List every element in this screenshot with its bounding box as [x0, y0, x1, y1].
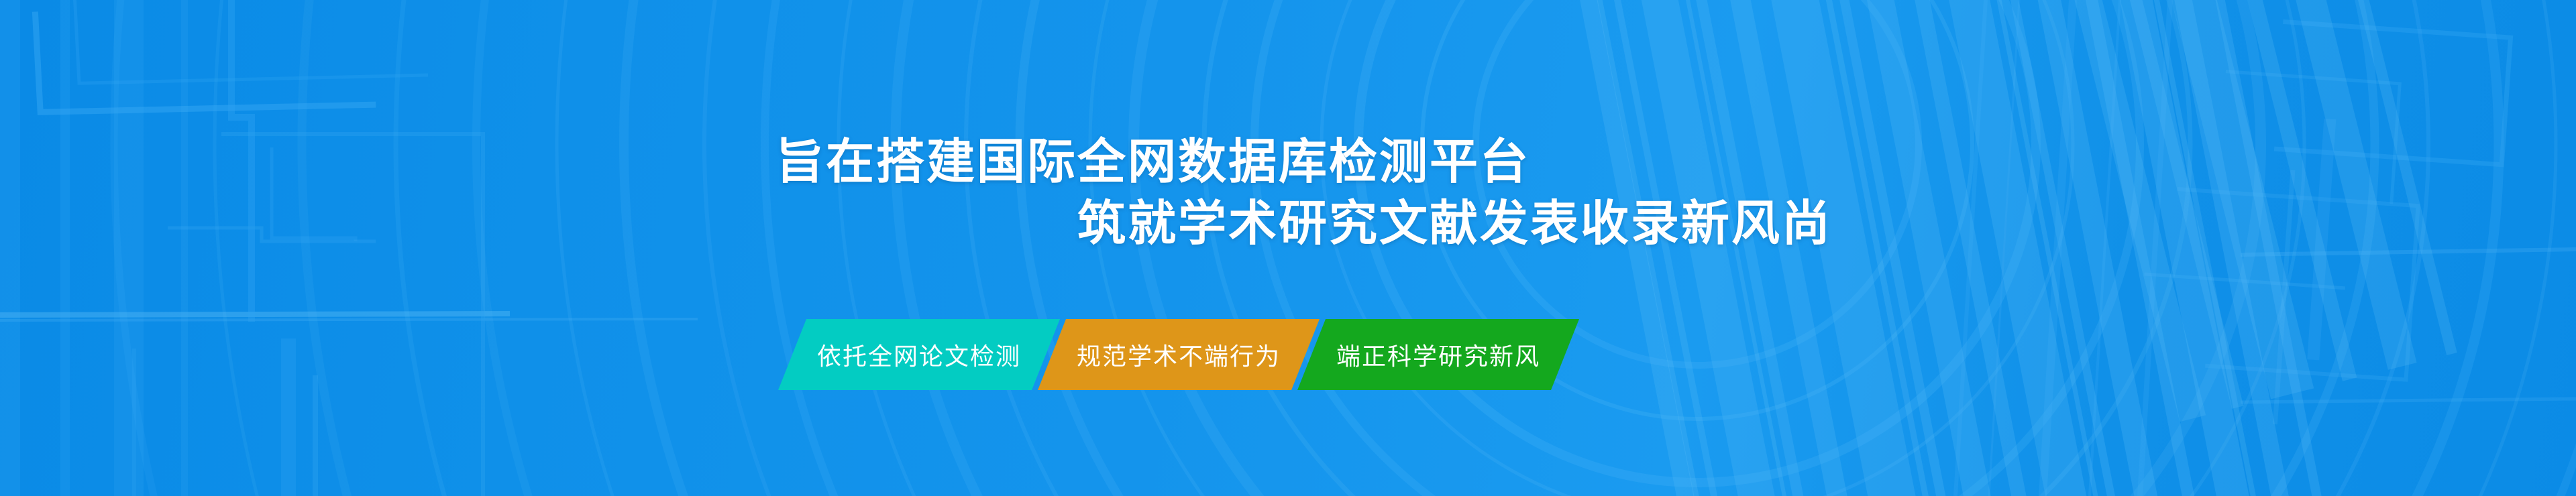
- feature-badge-research-ethics[interactable]: 端正科学研究新风: [1297, 319, 1579, 390]
- feature-badge-label: 依托全网论文检测: [810, 337, 1028, 372]
- feature-badge-label: 端正科学研究新风: [1330, 337, 1547, 372]
- feature-badge-academic-misconduct[interactable]: 规范学术不端行为: [1038, 319, 1320, 390]
- feature-badge-label: 规范学术不端行为: [1070, 337, 1287, 372]
- promo-banner: 旨在搭建国际全网数据库检测平台 筑就学术研究文献发表收录新风尚 依托全网论文检测…: [0, 0, 2576, 496]
- feature-ribbon: 依托全网论文检测 规范学术不端行为 端正科学研究新风: [778, 319, 1579, 390]
- feature-badge-plagiarism-detection[interactable]: 依托全网论文检测: [778, 319, 1060, 390]
- headline-line-2: 筑就学术研究文献发表收录新风尚: [0, 193, 2576, 255]
- headline-line-1: 旨在搭建国际全网数据库检测平台: [0, 131, 2576, 193]
- headline-block: 旨在搭建国际全网数据库检测平台 筑就学术研究文献发表收录新风尚: [0, 131, 2576, 255]
